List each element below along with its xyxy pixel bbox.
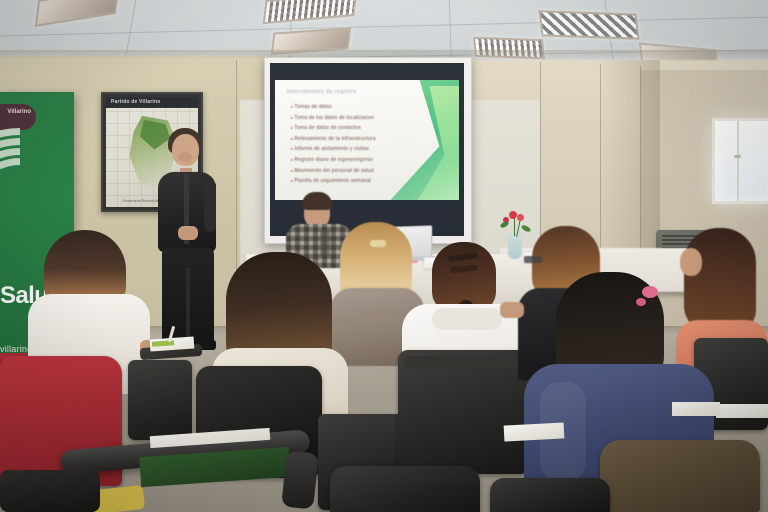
slide-bullet-list: Tomas de datos Toma de los datos de loca… <box>291 102 441 187</box>
hands <box>178 226 198 240</box>
face-shadow <box>178 152 192 162</box>
map-poster-header: Partido de Villarino <box>106 97 198 107</box>
jacket-lapel <box>204 180 216 232</box>
flower-bloom <box>509 211 517 219</box>
papers <box>504 422 565 441</box>
slide-bullet: Tomas de datos <box>291 102 441 113</box>
flower-bloom <box>517 214 524 221</box>
chair-top-rail <box>404 356 522 368</box>
banner-logo-pill: Villarino <box>0 104 36 130</box>
shirt-placket <box>320 230 330 256</box>
pink-hair-clip <box>636 298 646 306</box>
window-mullion <box>737 121 739 201</box>
glasses <box>524 256 542 263</box>
face <box>680 248 702 276</box>
slide-bullet: Registro diario de ingreso/egreso <box>291 155 441 166</box>
map-caption: Provincia de Buenos Aires <box>123 199 163 203</box>
window-latch <box>734 155 741 158</box>
chair-upholstered <box>600 440 760 512</box>
slide-bullet: Planilla de seguimiento semanal <box>291 176 441 187</box>
papers <box>716 404 768 418</box>
window <box>712 118 768 204</box>
map-poster-title: Partido de Villarino <box>111 99 160 105</box>
chair-back <box>330 466 480 512</box>
slide-bullet: Toma de los datos de localizacion <box>291 113 441 124</box>
conference-room-photo: Instrumentos de registro Tomas de datos … <box>0 0 768 512</box>
stroller-frame <box>281 450 319 509</box>
slide-bullet: Toma de datos de contactos <box>291 123 441 134</box>
chair-back <box>128 360 192 440</box>
chair-back <box>490 478 610 512</box>
slide-bullet: Movimiento del personal de salud <box>291 166 441 177</box>
ceiling-light-fixture <box>538 10 639 40</box>
flower-stem <box>514 216 515 236</box>
trouser-seam <box>186 268 190 338</box>
slide-title: Instrumentos de registro <box>287 89 357 95</box>
slide-bullet: Informe de aislamiento y visitas <box>291 144 441 155</box>
projector-slide: Instrumentos de registro Tomas de datos … <box>275 80 459 200</box>
papers <box>672 402 720 416</box>
hair <box>684 228 756 332</box>
stroller-frame <box>0 470 100 512</box>
slide-bullet: Relevamiento de la infraestructura <box>291 134 441 145</box>
banner-org-line2: Villarino <box>7 108 31 117</box>
hand <box>500 302 524 318</box>
chair-back <box>398 350 530 474</box>
pink-hair-clip <box>642 286 658 298</box>
hair <box>302 192 332 210</box>
hoodie-hood <box>432 308 502 330</box>
hair-clip <box>370 240 386 247</box>
flower-vase <box>508 233 522 259</box>
